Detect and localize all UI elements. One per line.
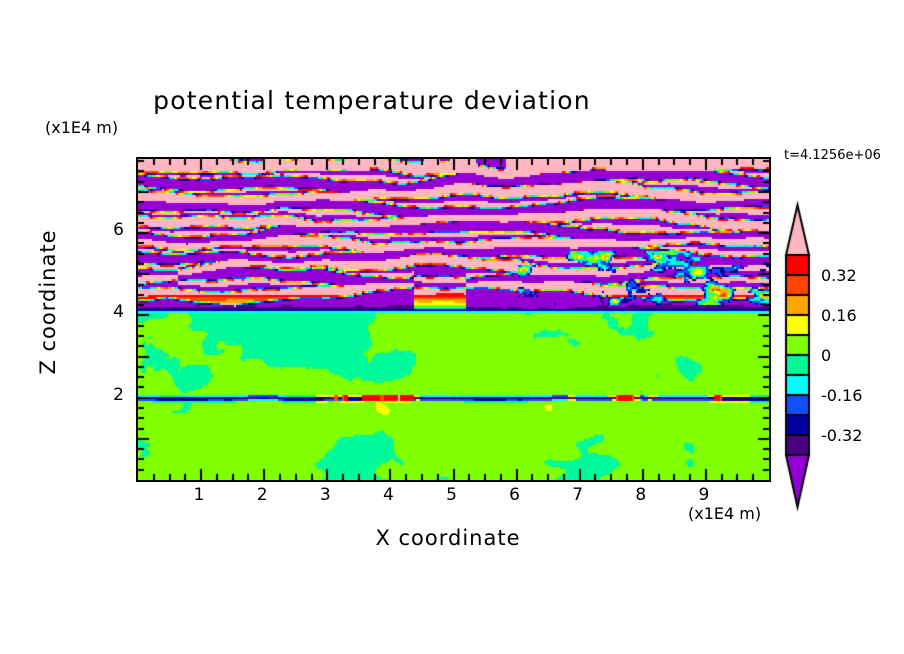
colorbar: 0.320.160-0.16-0.32 bbox=[781, 200, 901, 525]
figure-root: potential temperature deviation (x1E4 m)… bbox=[0, 0, 904, 654]
x-tick-label-2: 2 bbox=[247, 485, 277, 505]
x-tick-label-7: 7 bbox=[563, 485, 593, 505]
y-axis-title: Z coordinate bbox=[36, 202, 60, 402]
x-tick-label-4: 4 bbox=[373, 485, 403, 505]
y-tick-label-4: 4 bbox=[94, 302, 124, 322]
contour-plot-area bbox=[136, 157, 771, 482]
colorbar-tick-label-1: 0.16 bbox=[821, 306, 857, 325]
x-axis-unit-label: (x1E4 m) bbox=[688, 504, 761, 523]
y-axis-unit-label: (x1E4 m) bbox=[45, 118, 118, 137]
y-tick-label-6: 6 bbox=[94, 220, 124, 240]
x-tick-label-6: 6 bbox=[500, 485, 530, 505]
colorbar-swatches bbox=[781, 200, 901, 525]
x-tick-label-5: 5 bbox=[437, 485, 467, 505]
title-text: potential temperature deviation bbox=[153, 86, 591, 115]
colorbar-tick-label-2: 0 bbox=[821, 346, 831, 365]
page-title: potential temperature deviation bbox=[0, 86, 904, 115]
x-axis-title-text: X coordinate bbox=[375, 526, 520, 550]
x-tick-label-9: 9 bbox=[689, 485, 719, 505]
y-axis-title-text: Z coordinate bbox=[36, 229, 60, 374]
colorbar-tick-label-3: -0.16 bbox=[821, 386, 862, 405]
x-tick-label-3: 3 bbox=[310, 485, 340, 505]
colorbar-tick-label-0: 0.32 bbox=[821, 266, 857, 285]
contour-field-canvas bbox=[138, 159, 769, 480]
timestamp-annotation: t=4.1256e+06 bbox=[784, 148, 881, 163]
x-tick-label-8: 8 bbox=[626, 485, 656, 505]
x-tick-label-1: 1 bbox=[184, 485, 214, 505]
y-tick-label-2: 2 bbox=[94, 385, 124, 405]
x-axis-title: X coordinate bbox=[0, 526, 904, 550]
colorbar-tick-label-4: -0.32 bbox=[821, 426, 862, 445]
